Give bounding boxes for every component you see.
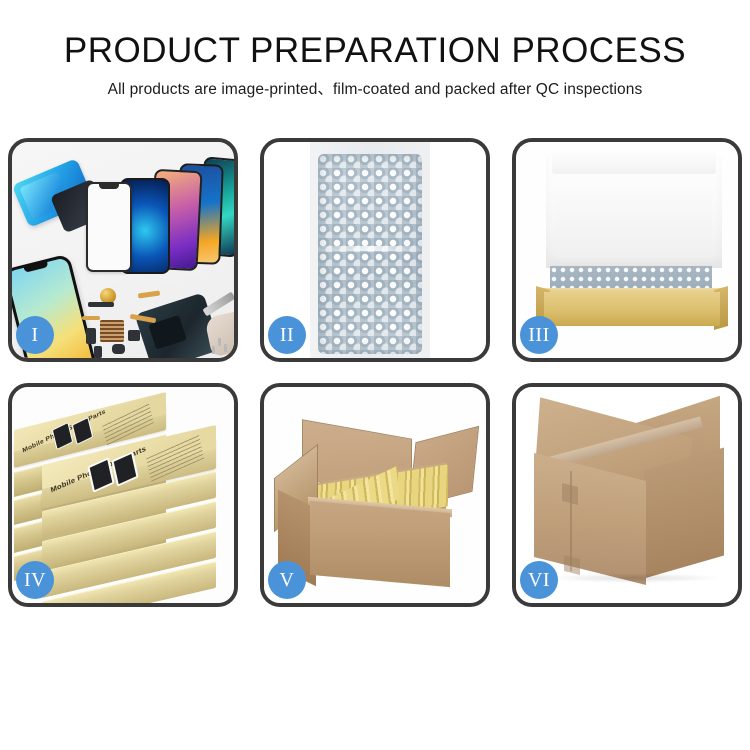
button-part-icon [112, 344, 125, 354]
screw-3-icon [212, 346, 215, 354]
white-lid-top-icon [552, 152, 716, 174]
sealed-carton-tab-top [562, 483, 578, 505]
step-badge-4: IV [16, 561, 54, 599]
flex-cable-3-icon [82, 316, 100, 320]
screw-2-icon [224, 344, 227, 352]
step-badge-5: V [268, 561, 306, 599]
screw-1-icon [218, 338, 221, 346]
sealed-carton-shadow [546, 573, 722, 583]
chip-grid-icon [100, 320, 124, 342]
step-badge-1: I [16, 316, 54, 354]
bubble-wrap-seam [318, 246, 422, 251]
step-badge-3: III [520, 316, 558, 354]
connector-part-icon [86, 328, 96, 344]
screen-protector-icon [86, 182, 132, 272]
step-card-3[interactable]: III [512, 138, 742, 362]
speaker-part-icon [88, 302, 114, 307]
step-card-5[interactable]: V [260, 383, 490, 607]
sim-tray-icon [94, 346, 102, 358]
kraft-box-front-face [544, 292, 720, 326]
white-lid-inner-icon [556, 192, 712, 258]
camera-part-icon [128, 330, 140, 341]
page-subtitle: All products are image-printed、film-coat… [0, 80, 750, 100]
carton-front-face [310, 501, 450, 587]
page-title: PRODUCT PREPARATION PROCESS [0, 30, 750, 72]
bubble-wrap-icon [318, 154, 422, 354]
process-steps-grid: I II III [8, 138, 742, 607]
step-card-6[interactable]: VI [512, 383, 742, 607]
step-card-4[interactable]: Mobile Phone Spare Parts Mobile Phone Sp… [8, 383, 238, 607]
step-card-1[interactable]: I [8, 138, 238, 362]
sealed-carton-right-face [644, 448, 724, 579]
step-badge-2: II [268, 316, 306, 354]
step-badge-6: VI [520, 561, 558, 599]
page-header: PRODUCT PREPARATION PROCESS All products… [0, 0, 750, 100]
step-card-2[interactable]: II [260, 138, 490, 362]
